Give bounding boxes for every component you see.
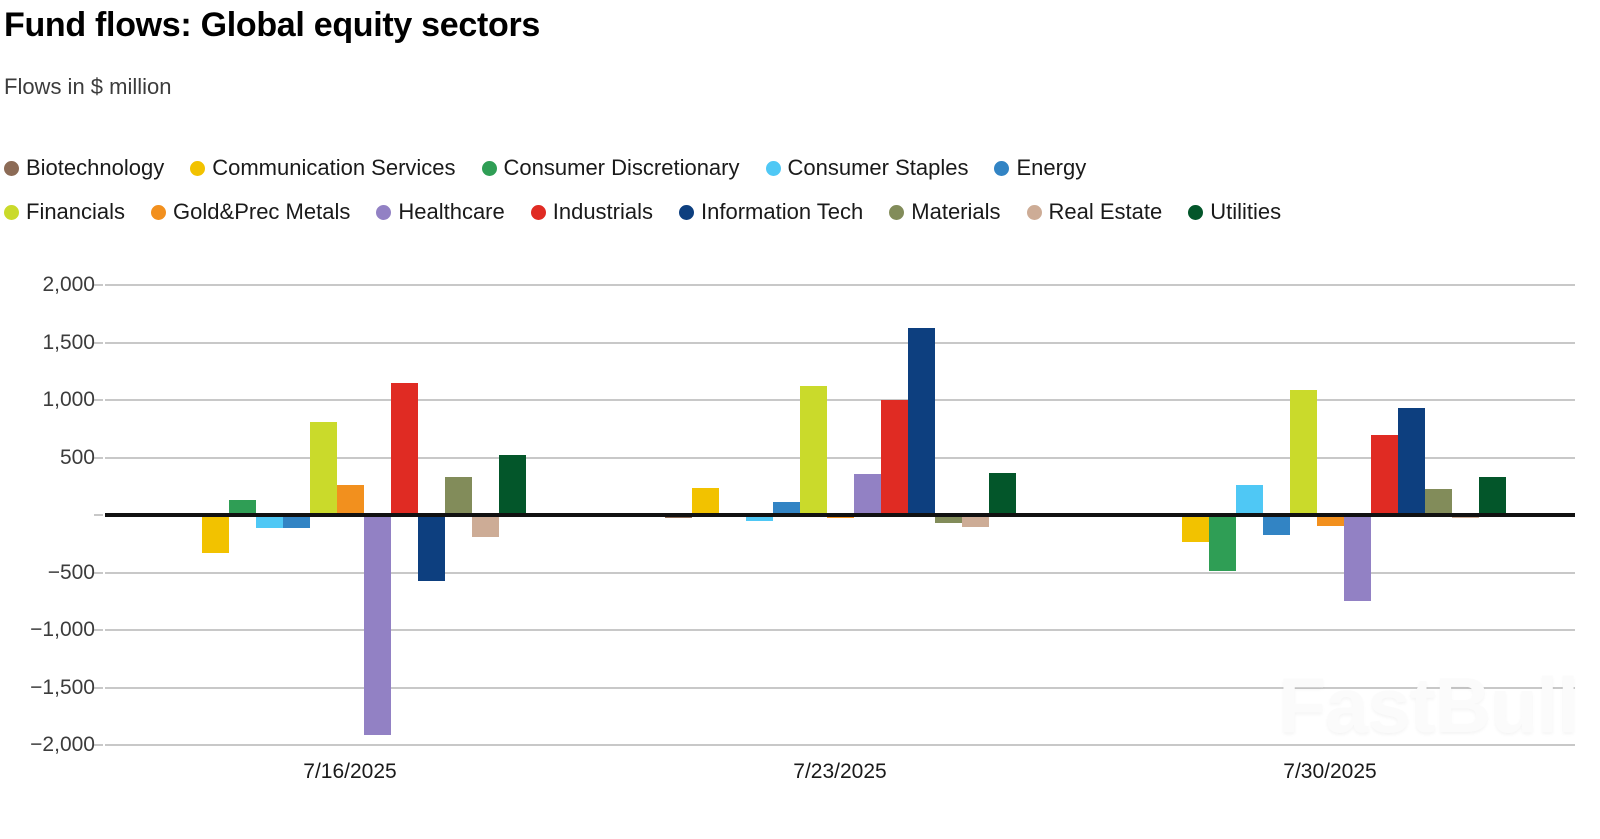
legend-item-gold-prec-metals[interactable]: Gold&Prec Metals	[151, 201, 350, 223]
bar[interactable]	[418, 515, 445, 581]
gridline	[105, 284, 1575, 286]
y-axis-tick-mark	[94, 284, 103, 286]
bar[interactable]	[1209, 515, 1236, 571]
bar[interactable]	[1182, 515, 1209, 542]
legend-swatch-icon	[531, 205, 546, 220]
bar[interactable]	[445, 477, 472, 515]
bar[interactable]	[499, 455, 526, 515]
legend-swatch-icon	[482, 161, 497, 176]
zero-axis-line	[105, 513, 1575, 517]
legend-item-label: Materials	[911, 201, 1000, 223]
legend-row-2: FinancialsGold&Prec MetalsHealthcareIndu…	[4, 190, 1584, 234]
legend-item-industrials[interactable]: Industrials	[531, 201, 653, 223]
legend-swatch-icon	[679, 205, 694, 220]
bar[interactable]	[692, 488, 719, 515]
legend-item-label: Consumer Discretionary	[504, 157, 740, 179]
legend-item-label: Gold&Prec Metals	[173, 201, 350, 223]
bar[interactable]	[800, 386, 827, 515]
bar[interactable]	[1290, 390, 1317, 515]
bar[interactable]	[1479, 477, 1506, 515]
legend-item-label: Energy	[1016, 157, 1086, 179]
y-axis-tick-mark	[94, 514, 103, 516]
bar[interactable]	[1236, 485, 1263, 515]
y-axis-tick-label: 500	[0, 446, 95, 470]
legend-item-biotechnology[interactable]: Biotechnology	[4, 157, 164, 179]
chart-legend: BiotechnologyCommunication ServicesConsu…	[4, 146, 1584, 234]
bar[interactable]	[1344, 515, 1371, 601]
legend-swatch-icon	[4, 161, 19, 176]
legend-item-label: Information Tech	[701, 201, 863, 223]
legend-swatch-icon	[889, 205, 904, 220]
legend-swatch-icon	[151, 205, 166, 220]
y-axis-tick-mark	[94, 572, 103, 574]
x-axis-tick-label: 7/16/2025	[303, 760, 396, 784]
bar[interactable]	[1371, 435, 1398, 516]
legend-item-label: Utilities	[1210, 201, 1281, 223]
legend-item-utilities[interactable]: Utilities	[1188, 201, 1281, 223]
bar[interactable]	[337, 485, 364, 515]
bar[interactable]	[1425, 489, 1452, 515]
legend-row-1: BiotechnologyCommunication ServicesConsu…	[4, 146, 1584, 190]
y-axis-tick-mark	[94, 687, 103, 689]
bar[interactable]	[1263, 515, 1290, 535]
y-axis-tick-mark	[94, 399, 103, 401]
x-axis-tick-label: 7/30/2025	[1283, 760, 1376, 784]
legend-swatch-icon	[1027, 205, 1042, 220]
legend-item-label: Biotechnology	[26, 157, 164, 179]
x-axis-tick-label: 7/23/2025	[793, 760, 886, 784]
legend-swatch-icon	[994, 161, 1009, 176]
legend-item-healthcare[interactable]: Healthcare	[376, 201, 504, 223]
plot-area: 2,0001,5001,000500−500−1,000−1,500−2,000…	[0, 248, 1600, 839]
legend-item-energy[interactable]: Energy	[994, 157, 1086, 179]
gridline	[105, 687, 1575, 689]
y-axis-tick-label: 2,000	[0, 273, 95, 297]
y-axis-tick-mark	[94, 629, 103, 631]
bar[interactable]	[310, 422, 337, 515]
chart-subtitle: Flows in $ million	[4, 74, 172, 100]
y-axis-tick-mark	[94, 342, 103, 344]
legend-item-consumer-discretionary[interactable]: Consumer Discretionary	[482, 157, 740, 179]
y-axis-tick-mark	[94, 457, 103, 459]
bar[interactable]	[1398, 408, 1425, 515]
bar[interactable]	[881, 400, 908, 515]
legend-item-label: Real Estate	[1049, 201, 1163, 223]
legend-item-real-estate[interactable]: Real Estate	[1027, 201, 1163, 223]
legend-item-label: Communication Services	[212, 157, 455, 179]
legend-item-label: Healthcare	[398, 201, 504, 223]
legend-item-communication-services[interactable]: Communication Services	[190, 157, 455, 179]
y-axis-tick-label: 1,500	[0, 331, 95, 355]
gridline	[105, 744, 1575, 746]
bar[interactable]	[854, 474, 881, 515]
bar[interactable]	[364, 515, 391, 735]
legend-item-label: Consumer Staples	[788, 157, 969, 179]
y-axis-tick-label: −2,000	[0, 733, 95, 757]
y-axis-tick-label: 1,000	[0, 388, 95, 412]
bar[interactable]	[391, 383, 418, 515]
legend-item-information-tech[interactable]: Information Tech	[679, 201, 863, 223]
bar[interactable]	[202, 515, 229, 553]
gridline	[105, 342, 1575, 344]
bar[interactable]	[908, 328, 935, 515]
legend-item-financials[interactable]: Financials	[4, 201, 125, 223]
legend-swatch-icon	[4, 205, 19, 220]
legend-swatch-icon	[766, 161, 781, 176]
legend-swatch-icon	[376, 205, 391, 220]
legend-item-label: Financials	[26, 201, 125, 223]
plot-inner	[105, 285, 1575, 745]
y-axis-tick-label: −1,500	[0, 676, 95, 700]
y-axis-tick-mark	[94, 744, 103, 746]
y-axis-tick-label: −500	[0, 561, 95, 585]
legend-swatch-icon	[1188, 205, 1203, 220]
gridline	[105, 399, 1575, 401]
legend-swatch-icon	[190, 161, 205, 176]
bar[interactable]	[989, 473, 1016, 515]
bar[interactable]	[472, 515, 499, 537]
legend-item-label: Industrials	[553, 201, 653, 223]
legend-item-consumer-staples[interactable]: Consumer Staples	[766, 157, 969, 179]
y-axis-tick-label: −1,000	[0, 618, 95, 642]
chart-title: Fund flows: Global equity sectors	[4, 6, 540, 45]
gridline	[105, 629, 1575, 631]
legend-item-materials[interactable]: Materials	[889, 201, 1000, 223]
